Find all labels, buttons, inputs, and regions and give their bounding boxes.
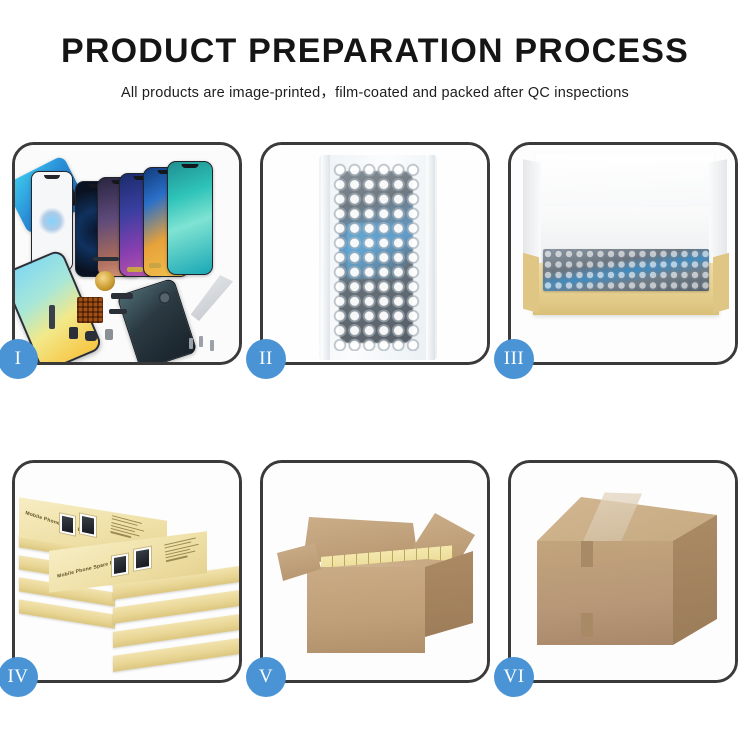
wrapped-items-icon [543, 249, 709, 291]
step-panel-stacked-boxes[interactable]: Mobile Phone Spare Parts Mobile Phone Sp… [12, 460, 242, 683]
step-badge-4: IV [0, 657, 38, 697]
box-stack-group: Mobile Phone Spare Parts Mobile Phone Sp… [17, 479, 239, 675]
tweezers-icon [187, 275, 233, 321]
box-screen-image-icon [59, 512, 76, 537]
step-panel-sealed-carton[interactable]: VI [508, 460, 738, 683]
sealed-carton-group [537, 497, 717, 653]
part-bit-icon [109, 309, 127, 314]
bubble-bag-group [319, 155, 437, 360]
part-bit-icon [111, 293, 133, 299]
step-panel-inner-box[interactable]: III [508, 142, 738, 365]
step-badge-2: II [246, 339, 286, 379]
step-badge-3: III [494, 339, 534, 379]
step-panel-products[interactable]: I [12, 142, 242, 365]
box-screen-image-icon [133, 546, 152, 572]
stacked-boxes-photo: Mobile Phone Spare Parts Mobile Phone Sp… [15, 463, 239, 680]
step-panel-open-carton[interactable]: V [260, 460, 490, 683]
product-preparation-infographic: PRODUCT PREPARATION PROCESS All products… [0, 0, 750, 750]
part-bit-icon [127, 267, 143, 272]
bag-seam-left-icon [321, 155, 330, 360]
phone-screen-1-icon [167, 161, 213, 275]
header: PRODUCT PREPARATION PROCESS All products… [0, 0, 750, 102]
sealed-carton-photo [511, 463, 735, 680]
screws-group-icon [189, 336, 223, 352]
page-title: PRODUCT PREPARATION PROCESS [0, 34, 750, 70]
step-badge-1: I [0, 339, 38, 379]
bubble-shadow-pattern-icon [333, 163, 421, 351]
bag-seam-right-icon [426, 155, 435, 360]
part-bit-icon [105, 329, 113, 340]
inner-box-photo [511, 145, 735, 362]
part-bit-icon [149, 263, 161, 268]
phone-chassis-icon [116, 278, 197, 362]
products-photo [15, 145, 239, 362]
open-carton-group [285, 511, 475, 659]
carton-seam-icon [581, 613, 593, 637]
step-panel-bubble-wrap[interactable]: II [260, 142, 490, 365]
gold-coil-part-icon [95, 271, 115, 291]
part-bit-icon [49, 305, 55, 329]
chip-grid-part-icon [77, 297, 103, 323]
step-badge-5: V [246, 657, 286, 697]
box-screen-image-icon [79, 512, 97, 538]
kraft-tray-icon [533, 263, 719, 315]
carton-front-face-icon [307, 567, 425, 653]
steps-grid: I II [12, 142, 738, 683]
box-spec-lines [164, 536, 204, 564]
page-subtitle: All products are image-printed，film-coat… [0, 81, 750, 102]
step-badge-6: VI [494, 657, 534, 697]
part-bit-icon [93, 257, 119, 261]
box-screen-image-icon [111, 552, 129, 577]
open-carton-photo [263, 463, 487, 680]
bubble-wrap-photo [263, 145, 487, 362]
carton-seam-icon [581, 541, 593, 567]
part-bit-icon [69, 327, 78, 339]
part-bit-icon [85, 331, 97, 341]
carton-front-face-icon [537, 541, 673, 645]
